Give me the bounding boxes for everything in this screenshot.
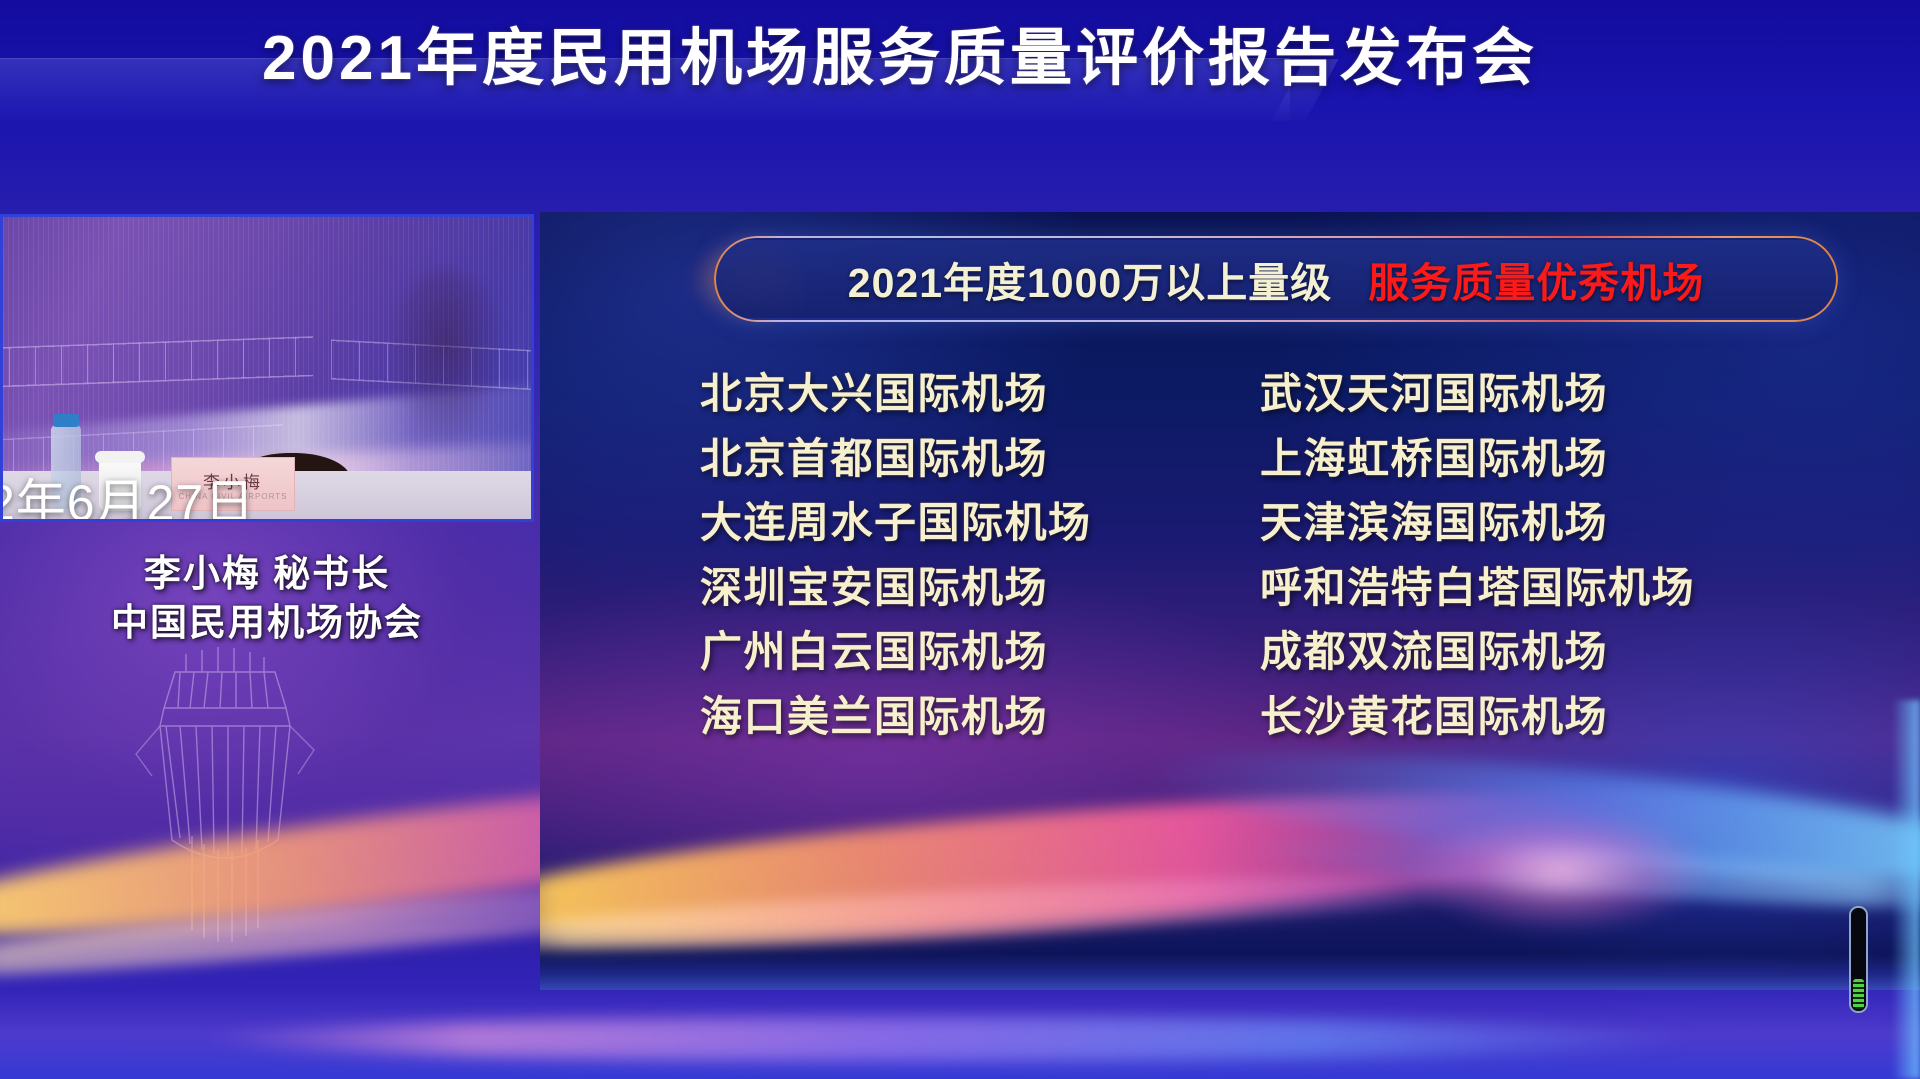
list-item: 海口美兰国际机场 bbox=[700, 685, 1092, 750]
water-bottle-cap bbox=[53, 414, 79, 427]
slide-bottom-band bbox=[540, 954, 1920, 990]
list-item: 天津滨海国际机场 bbox=[1260, 491, 1695, 556]
list-item: 深圳宝安国际机场 bbox=[700, 556, 1092, 621]
right-edge-glow bbox=[1892, 700, 1920, 1079]
list-item: 广州白云国际机场 bbox=[700, 620, 1092, 685]
background-bottom-ray bbox=[200, 1017, 1700, 1061]
background-person-silhouette bbox=[385, 269, 505, 449]
audio-level-fill bbox=[1853, 979, 1864, 1009]
speaker-name-title: 李小梅 秘书长 bbox=[0, 550, 534, 599]
video-date-overlay: 2年6月27日 bbox=[0, 463, 255, 522]
airport-column-left: 北京大兴国际机场 北京首都国际机场 大连周水子国际机场 深圳宝安国际机场 广州白… bbox=[700, 362, 1092, 749]
list-item: 大连周水子国际机场 bbox=[700, 491, 1092, 556]
audio-level-meter[interactable] bbox=[1849, 906, 1868, 1013]
video-feed[interactable]: 李小梅 CHINA CIVIL AIRPORTS 2年6月27日 bbox=[0, 214, 534, 522]
list-item: 长沙黄花国际机场 bbox=[1260, 685, 1695, 750]
list-item: 成都双流国际机场 bbox=[1260, 620, 1695, 685]
list-item: 呼和浩特白塔国际机场 bbox=[1260, 556, 1695, 621]
page-title: 2021年度民用机场服务质量评价报告发布会 bbox=[0, 16, 1920, 102]
list-item: 北京首都国际机场 bbox=[700, 427, 1092, 492]
banner-border-ring bbox=[714, 236, 1838, 322]
airport-column-right: 武汉天河国际机场 上海虹桥国际机场 天津滨海国际机场 呼和浩特白塔国际机场 成都… bbox=[1260, 362, 1695, 749]
slide-ray-crossing-glow bbox=[1410, 812, 1710, 932]
airport-lists: 北京大兴国际机场 北京首都国际机场 大连周水子国际机场 深圳宝安国际机场 广州白… bbox=[540, 362, 1920, 712]
broadcast-stage: 2021年度民用机场服务质量评价报告发布会 李小梅 bbox=[0, 0, 1920, 1079]
list-item: 上海虹桥国际机场 bbox=[1260, 427, 1695, 492]
tea-cup-lid bbox=[95, 451, 145, 463]
list-item: 武汉天河国际机场 bbox=[1260, 362, 1695, 427]
list-item: 北京大兴国际机场 bbox=[700, 362, 1092, 427]
